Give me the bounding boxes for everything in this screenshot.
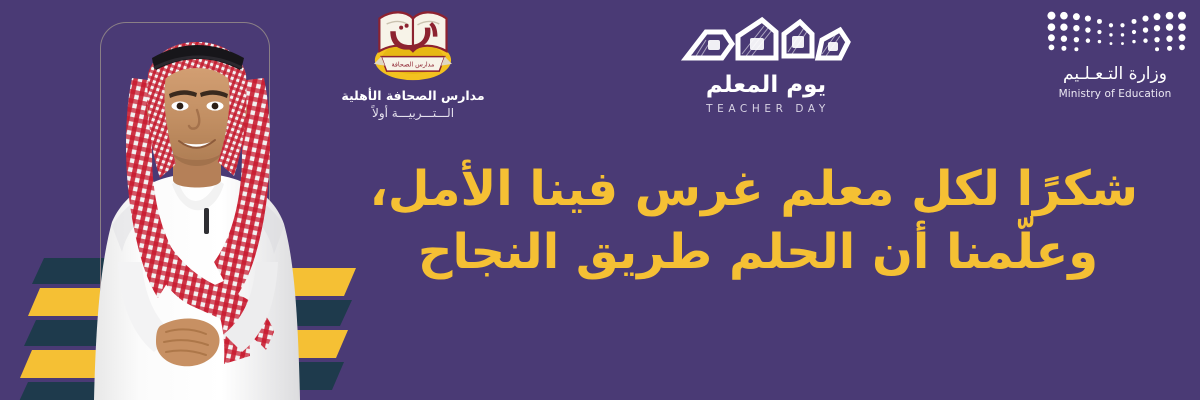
school-name: مدارس الصحافة الأهلية — [318, 88, 508, 103]
ministry-latin: Ministry of Education — [1035, 88, 1195, 100]
open-book-emblem-icon: مدارس الصحافة — [354, 4, 472, 82]
ministry-name: وزارة التـعـلـيم — [1035, 66, 1195, 83]
ministry-logo: وزارة التـعـلـيم Ministry of Education — [1035, 8, 1195, 100]
moe-dot-matrix-palm-icon — [1038, 8, 1192, 56]
headline-line-2: وعلّمنا أن الحلم طريق النجاح — [378, 221, 1138, 284]
headline-line-1: شكرًا لكل معلم غرس فينا الأمل، — [378, 158, 1138, 221]
svg-text:مدارس الصحافة: مدارس الصحافة — [392, 62, 435, 69]
teacher-day-logo: يوم المعلم TEACHER DAY — [676, 14, 856, 115]
teacher-portrait — [28, 12, 348, 400]
teacher-day-latin: TEACHER DAY — [676, 103, 856, 115]
pen — [204, 208, 209, 234]
school-logo: مدارس الصحافة مدارس الصحافة الأهلية الــ… — [318, 4, 508, 120]
school-tagline: الـــتـــربيـــة أولاً — [318, 106, 508, 120]
headline: شكرًا لكل معلم غرس فينا الأمل، وعلّمنا أ… — [378, 158, 1138, 285]
teacher-day-banner: مدارس الصحافة مدارس الصحافة الأهلية الــ… — [0, 0, 1200, 400]
teacher-day-kufic-mark-icon — [676, 14, 856, 66]
teacher-day-name: يوم المعلم — [676, 74, 856, 97]
